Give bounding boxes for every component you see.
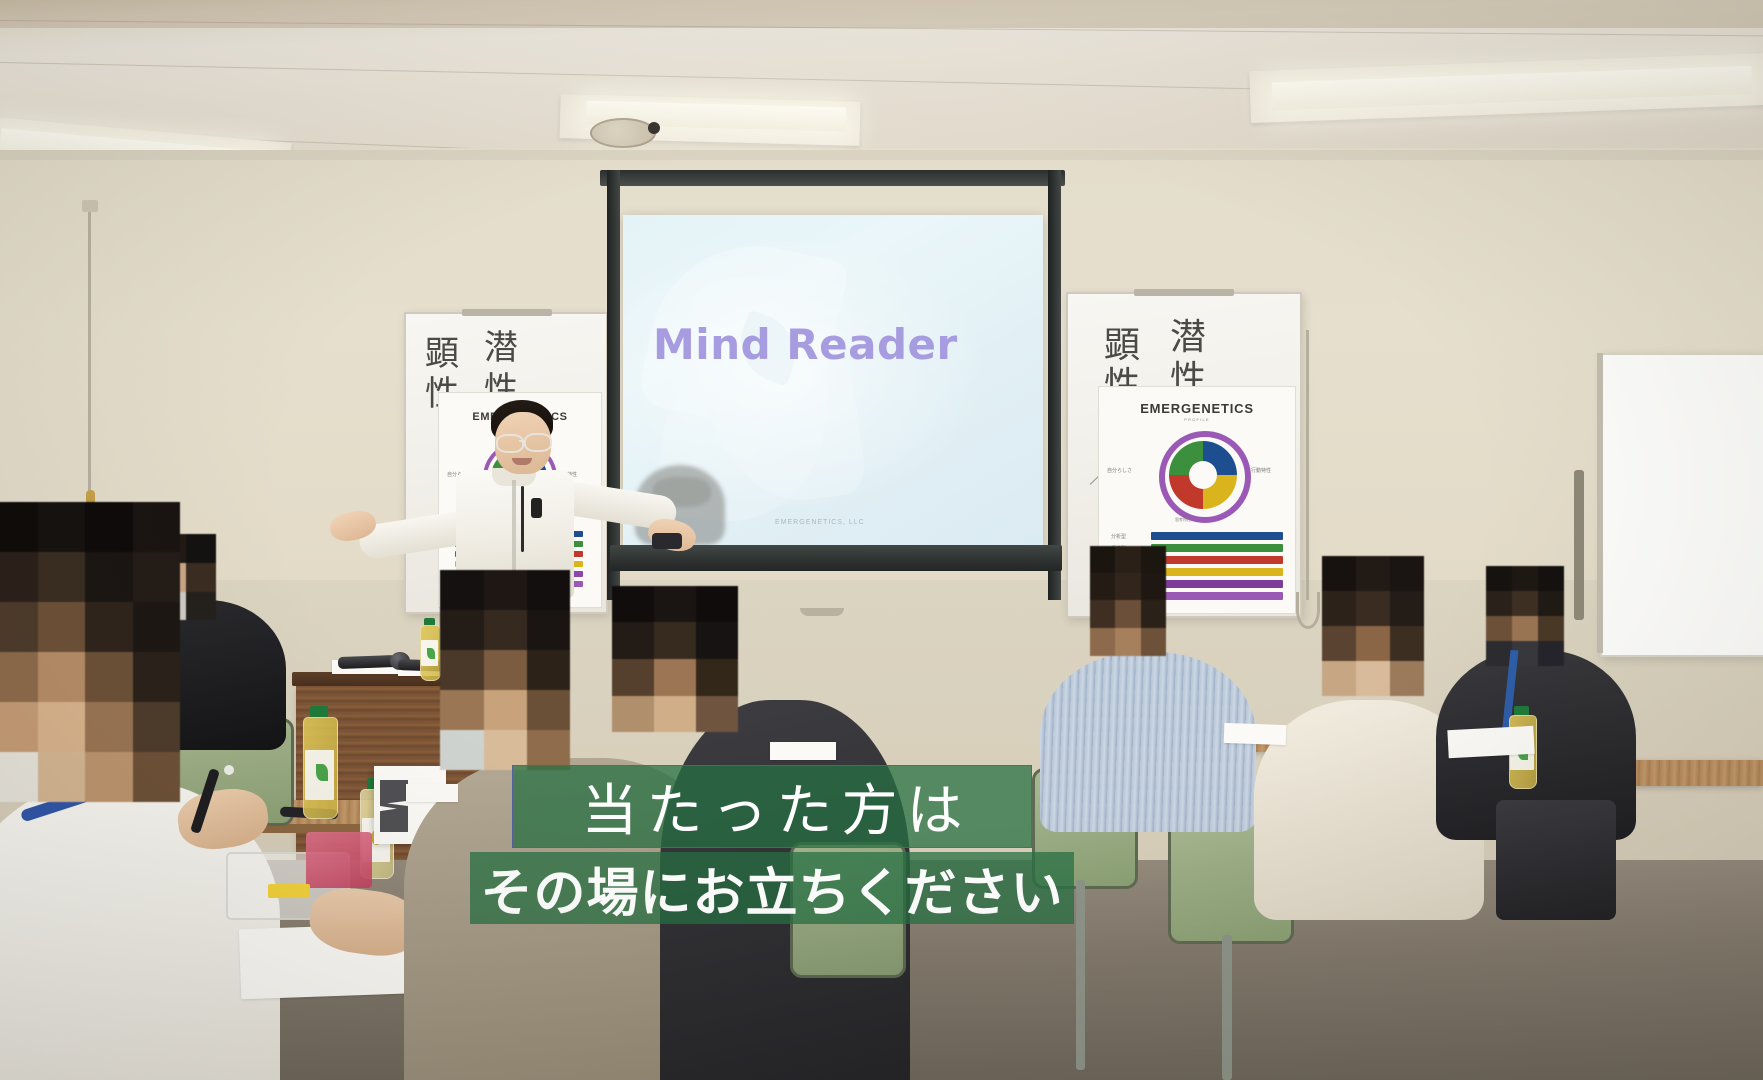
papers-right-desk-2 (1224, 723, 1287, 745)
audience-person-striped-face-pixelated (1090, 546, 1166, 656)
audience-person-dark-right-face-pixelated (1486, 566, 1564, 666)
name-card-number (380, 780, 408, 832)
pen-left-tip (224, 765, 234, 775)
bottle-left-desk-1 (300, 706, 338, 818)
presenter-clicker (652, 533, 682, 549)
podium-microphone-1 (338, 655, 396, 669)
screenshot-root: 顕 潜 性 性 EMERGENETICS PROFILE 自分らしさ 行動特性 … (0, 0, 1763, 1080)
papers-right-desk (1447, 726, 1534, 758)
chair-right-1-leg (1076, 880, 1085, 1070)
presenter-glasses-right (524, 433, 552, 452)
presenter-glasses-left (496, 434, 524, 453)
presenter-lapel-mic (531, 498, 542, 518)
subtitle-line-2: その場にお立ちください (470, 852, 1074, 924)
bag-right (1496, 800, 1616, 920)
subtitle-line-1: 当たった方は (512, 765, 1032, 848)
chair-right-2-leg (1222, 935, 1232, 1080)
papers-center-desk-2 (406, 784, 458, 802)
snack-bag (306, 832, 372, 888)
presenter-glasses-bridge (519, 440, 525, 442)
audience-person-knit-face-pixelated (1322, 556, 1424, 696)
bottle-podium (418, 618, 440, 680)
snack-label (268, 884, 310, 898)
papers-center-desk (770, 742, 836, 760)
audience-person-center-dark-face-pixelated (612, 586, 738, 732)
presenter-lapel-mic-cable (521, 486, 524, 552)
audience-person-foreground-left-face-pixelated (0, 502, 180, 802)
audience-person-center-beige-face-pixelated (440, 570, 570, 770)
